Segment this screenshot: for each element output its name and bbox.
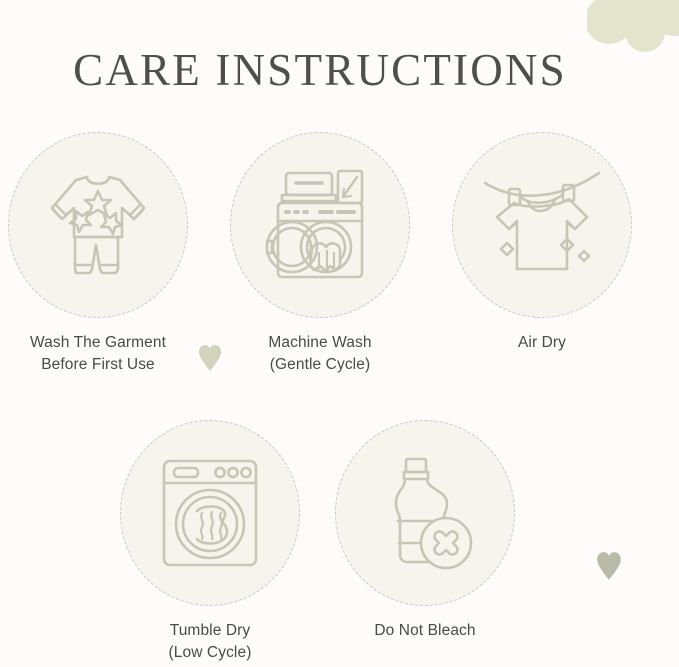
badge-circle <box>230 132 410 318</box>
clothesline-tshirt-icon <box>483 169 601 281</box>
badge-circle <box>120 420 300 606</box>
care-item-label: Do Not Bleach <box>374 620 475 642</box>
care-item-tumble-dry[interactable]: Tumble Dry (Low Cycle) <box>120 420 300 664</box>
badge-circle <box>452 132 632 318</box>
pajama-star-onesie-icon <box>46 167 150 283</box>
washing-machine-icon <box>264 167 376 283</box>
care-item-machine-wash[interactable]: Machine Wash (Gentle Cycle) <box>230 132 410 376</box>
badge-circle <box>335 420 515 606</box>
care-item-label: Machine Wash (Gentle Cycle) <box>268 332 371 376</box>
care-item-label: Tumble Dry (Low Cycle) <box>169 620 252 664</box>
care-row-top: Wash The Garment Before First Use <box>0 132 679 376</box>
care-item-label: Wash The Garment Before First Use <box>30 332 166 376</box>
care-row-bottom: Tumble Dry (Low Cycle) Do Not Bleach <box>0 420 679 664</box>
care-item-label: Air Dry <box>518 332 566 354</box>
badge-circle <box>8 132 188 318</box>
care-item-do-not-bleach[interactable]: Do Not Bleach <box>335 420 515 664</box>
tumble-dryer-heat-icon <box>158 457 262 569</box>
care-item-wash-before-use[interactable]: Wash The Garment Before First Use <box>8 132 188 376</box>
care-item-air-dry[interactable]: Air Dry <box>452 132 632 376</box>
no-bleach-bottle-icon <box>374 455 476 571</box>
page-title: CARE INSTRUCTIONS <box>0 44 640 96</box>
